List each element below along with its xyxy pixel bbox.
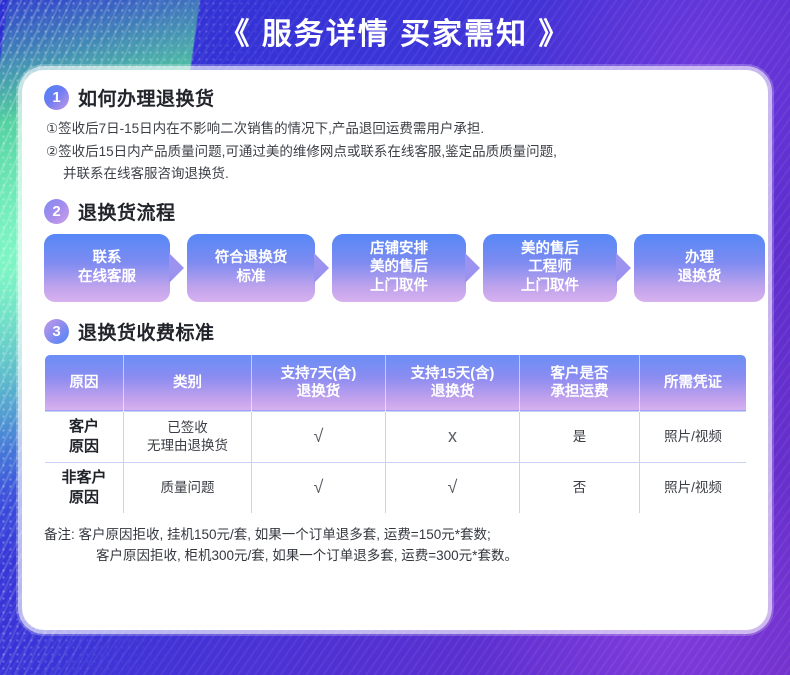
- footnote-line-2: 客户原因拒收, 柜机300元/套, 如果一个订单退多套, 运费=300元*套数。: [44, 546, 746, 567]
- flow-step-4-line-3: 上门取件: [521, 278, 579, 294]
- table-header-reason: 原因: [45, 354, 124, 411]
- flow-step-3-line-1: 店铺安排: [370, 241, 428, 257]
- table-header-category-l1: 类别: [173, 375, 202, 391]
- cell-reason: 客户 原因: [45, 411, 124, 462]
- table-header-support7-l2: 退换货: [297, 384, 341, 400]
- table-footnote: 备注: 客户原因拒收, 挂机150元/套, 如果一个订单退多套, 运费=150元…: [44, 525, 746, 567]
- flow-step-4[interactable]: 美的售后 工程师 上门取件: [483, 234, 617, 302]
- return-flow-diagram: 联系 在线客服 符合退换货 标准 店铺安排 美的售后 上门取件: [44, 234, 746, 302]
- cell-support15: x: [386, 411, 520, 462]
- table-header-support7-l1: 支持7天(含): [281, 366, 357, 382]
- flow-arrow-icon: [465, 253, 480, 283]
- cell-proof: 照片/视频: [640, 462, 747, 513]
- section-2-title: 退换货流程: [78, 198, 176, 225]
- section-3: 3 退换货收费标准 原因 类别 支持7天(含) 退换货: [44, 318, 746, 567]
- footnote-label: 备注:: [44, 527, 75, 542]
- cell-reason-l2: 原因: [69, 489, 99, 506]
- flow-step-2-line-1: 符合退换货: [215, 250, 288, 266]
- fee-standard-table: 原因 类别 支持7天(含) 退换货 支持15天(含) 退换货 客户是否: [44, 354, 747, 514]
- cell-reason-l1: 非客户: [61, 469, 106, 486]
- flow-step-2-line-2: 标准: [237, 269, 266, 285]
- flow-step-4-line-2: 工程师: [528, 259, 572, 275]
- flow-step-5[interactable]: 办理 退换货: [634, 234, 765, 302]
- section-1-number-badge: 1: [44, 85, 69, 110]
- flow-step-3-line-2: 美的售后: [370, 259, 428, 275]
- table-row: 客户 原因 已签收 无理由退换货 √ x 是 照片/视频: [45, 411, 747, 462]
- table-row: 非客户 原因 质量问题 √ √ 否 照片/视频: [45, 462, 747, 513]
- cell-category: 质量问题: [124, 462, 252, 513]
- section-1-line-2: ②签收后15日内产品质量问题,可通过美的维修网点或联系在线客服,鉴定品质质量问题…: [46, 142, 746, 162]
- cell-reason: 非客户 原因: [45, 462, 124, 513]
- section-1-line-3: 并联系在线客服咨询退换货.: [46, 164, 746, 184]
- table-header-freight-l2: 承担运费: [551, 384, 609, 400]
- cell-support15: √: [386, 462, 520, 513]
- cell-proof: 照片/视频: [640, 411, 747, 462]
- table-header-freight: 客户是否 承担运费: [520, 354, 640, 411]
- flow-step-3-line-3: 上门取件: [370, 278, 428, 294]
- flow-step-1-line-2: 在线客服: [78, 269, 136, 285]
- cell-category-l1: 已签收: [167, 420, 208, 435]
- table-header-reason-l1: 原因: [70, 375, 99, 391]
- footnote-line-1: 备注: 客户原因拒收, 挂机150元/套, 如果一个订单退多套, 运费=150元…: [44, 525, 746, 546]
- flow-step-3[interactable]: 店铺安排 美的售后 上门取件: [332, 234, 466, 302]
- section-2: 2 退换货流程 联系 在线客服 符合退换货 标准 店铺安排: [44, 198, 746, 302]
- cell-category-l2: 无理由退换货: [147, 438, 228, 453]
- section-1-body: ①签收后7日-15日内在不影响二次销售的情况下,产品退回运费需用户承担. ②签收…: [46, 119, 746, 184]
- cell-category: 已签收 无理由退换货: [124, 411, 252, 462]
- table-header-freight-l1: 客户是否: [551, 366, 609, 382]
- cell-reason-l1: 客户: [69, 418, 99, 435]
- cell-reason-l2: 原因: [69, 438, 99, 455]
- flow-step-1[interactable]: 联系 在线客服: [44, 234, 170, 302]
- flow-step-5-line-1: 办理: [685, 250, 714, 266]
- section-3-title: 退换货收费标准: [78, 318, 215, 345]
- table-header-category: 类别: [124, 354, 252, 411]
- flow-arrow-icon: [169, 253, 184, 283]
- flow-arrow-icon: [314, 253, 329, 283]
- section-1-heading: 1 如何办理退换货: [44, 84, 746, 111]
- section-3-number-badge: 3: [44, 319, 69, 344]
- cell-category-l1: 质量问题: [161, 480, 215, 495]
- section-2-number-badge: 2: [44, 199, 69, 224]
- table-header-proof-l1: 所需凭证: [664, 375, 722, 391]
- flow-step-2[interactable]: 符合退换货 标准: [187, 234, 315, 302]
- section-1-title: 如何办理退换货: [78, 84, 215, 111]
- table-header-row: 原因 类别 支持7天(含) 退换货 支持15天(含) 退换货 客户是否: [45, 354, 747, 411]
- flow-step-4-line-1: 美的售后: [521, 241, 579, 257]
- table-header-proof: 所需凭证: [640, 354, 747, 411]
- footnote-text-1: 客户原因拒收, 挂机150元/套, 如果一个订单退多套, 运费=150元*套数;: [79, 527, 491, 542]
- table-header-support15-l1: 支持15天(含): [411, 366, 495, 382]
- section-2-heading: 2 退换货流程: [44, 198, 746, 225]
- flow-arrow-icon: [616, 253, 631, 283]
- cell-freight: 是: [520, 411, 640, 462]
- cell-support7: √: [252, 411, 386, 462]
- table-header-support15: 支持15天(含) 退换货: [386, 354, 520, 411]
- cell-freight: 否: [520, 462, 640, 513]
- table-header-support15-l2: 退换货: [431, 384, 475, 400]
- flow-step-1-line-1: 联系: [93, 250, 122, 266]
- table-header-support7: 支持7天(含) 退换货: [252, 354, 386, 411]
- cell-support7: √: [252, 462, 386, 513]
- page-header: 《 服务详情 买家需知 》: [0, 0, 790, 62]
- page-title: 《 服务详情 买家需知 》: [219, 9, 570, 53]
- content-card: 1 如何办理退换货 ①签收后7日-15日内在不影响二次销售的情况下,产品退回运费…: [22, 70, 768, 630]
- flow-step-5-line-2: 退换货: [678, 269, 722, 285]
- section-1-line-1: ①签收后7日-15日内在不影响二次销售的情况下,产品退回运费需用户承担.: [46, 119, 746, 139]
- section-3-heading: 3 退换货收费标准: [44, 318, 746, 345]
